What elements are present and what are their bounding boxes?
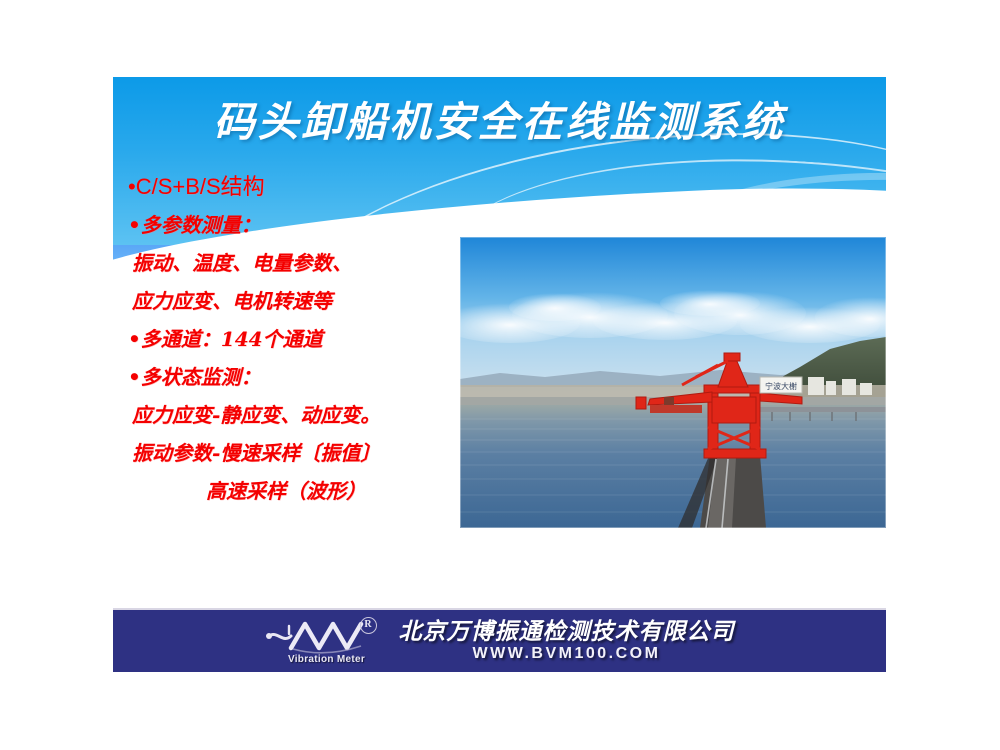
bullet-line: 应力应变-静应变、动应变。 bbox=[128, 396, 458, 434]
bullet-line: 应力应变、电机转速等 bbox=[128, 282, 458, 320]
bullet-line: •多参数测量： bbox=[128, 206, 458, 244]
svg-text:宁波大榭: 宁波大榭 bbox=[765, 381, 797, 391]
company-logo: R Vibration Meter bbox=[265, 618, 383, 664]
presentation-slide: 码头卸船机安全在线监测系统 •C/S+B/S结构 •多参数测量： 振动、温度、电… bbox=[0, 0, 1000, 750]
bullet-line: •C/S+B/S结构 bbox=[128, 168, 458, 206]
bullet-line: 振动参数-慢速采样〔振值〕 bbox=[128, 434, 458, 472]
registered-trademark-icon: R bbox=[360, 617, 377, 634]
bullet-line: •多通道：144个通道 bbox=[128, 320, 458, 358]
photo-artwork: 宁波大榭 bbox=[460, 237, 886, 528]
bullet-line: 高速采样（波形） bbox=[128, 472, 458, 510]
slide-title: 码头卸船机安全在线监测系统 bbox=[113, 100, 886, 144]
footer-company-block: 北京万博振通检测技术有限公司 WWW.BVM100.COM bbox=[399, 620, 735, 662]
bullet-list: •C/S+B/S结构 •多参数测量： 振动、温度、电量参数、 应力应变、电机转速… bbox=[128, 168, 458, 510]
footer-bar: R Vibration Meter 北京万博振通检测技术有限公司 WWW.BVM… bbox=[113, 608, 886, 672]
harbor-unloader-photo: 宁波大榭 bbox=[460, 237, 886, 528]
bullet-line: 振动、温度、电量参数、 bbox=[128, 244, 458, 282]
company-name-cn: 北京万博振通检测技术有限公司 bbox=[399, 620, 735, 643]
logo-caption: Vibration Meter bbox=[271, 654, 383, 665]
bullet-line: •多状态监测： bbox=[128, 358, 458, 396]
company-website[interactable]: WWW.BVM100.COM bbox=[473, 646, 661, 662]
